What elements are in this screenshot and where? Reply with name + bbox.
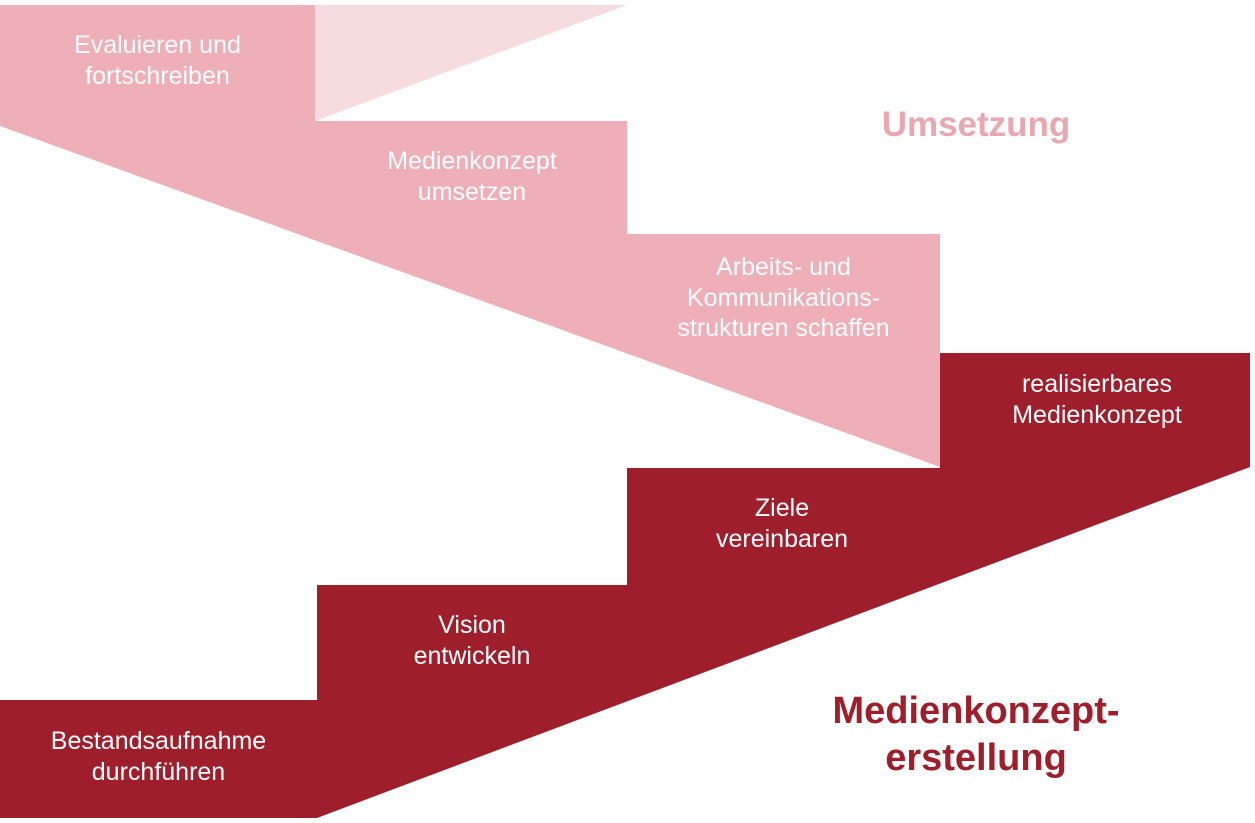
diagram-canvas: Evaluieren und fortschreiben Medienkonze… <box>0 0 1255 823</box>
descending-staircase-shape <box>0 5 940 467</box>
staircase-shapes <box>0 0 1255 823</box>
light-pink-accent-triangle <box>315 5 627 121</box>
ascending-staircase-shape <box>0 353 1250 818</box>
